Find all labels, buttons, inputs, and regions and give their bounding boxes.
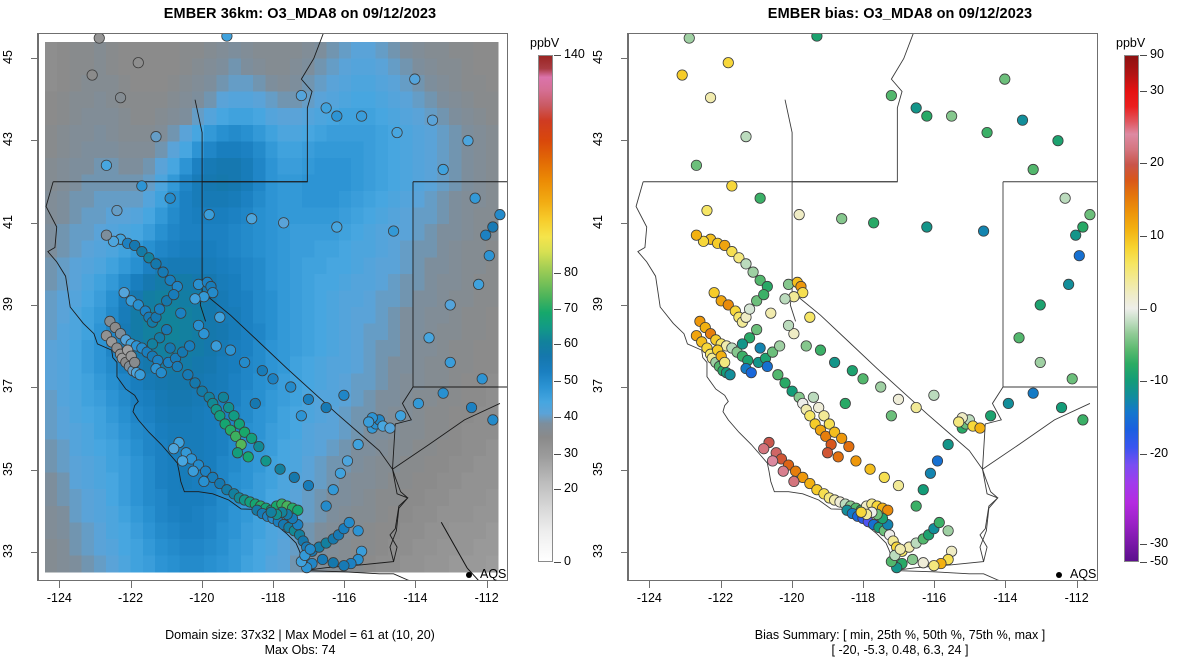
colorbar-tick [1140, 236, 1147, 237]
colorbar-tick [554, 417, 561, 418]
x-axis-tick [1005, 581, 1006, 588]
colorbar-tick-label: 50 [564, 373, 578, 387]
colorbar-tick-label: 30 [1150, 83, 1164, 97]
x-axis-tick-label: -116 [904, 591, 964, 605]
concentration-colorbar-unit: ppbV [530, 36, 559, 50]
y-axis-tick-label: 43 [1, 119, 15, 159]
x-axis-tick [934, 581, 935, 588]
colorbar-tick [554, 454, 561, 455]
y-axis-tick-label: 39 [1, 284, 15, 324]
colorbar-tick-label: -20 [1150, 446, 1168, 460]
y-axis-tick-label: 33 [591, 531, 605, 571]
x-axis-tick-label: -122 [691, 591, 751, 605]
y-axis-line [627, 33, 628, 581]
x-axis-tick [863, 581, 864, 588]
colorbar-tick-label: 70 [564, 301, 578, 315]
x-axis-tick [59, 581, 60, 588]
x-axis-tick-label: -114 [385, 591, 445, 605]
x-axis-tick-label: -118 [243, 591, 303, 605]
colorbar-tick [1140, 309, 1147, 310]
colorbar-tick [1140, 454, 1147, 455]
colorbar-tick [1140, 562, 1147, 563]
colorbar-tick-label: 90 [1150, 47, 1164, 61]
colorbar-tick [1140, 163, 1147, 164]
x-axis-tick [415, 581, 416, 588]
x-axis-tick [649, 581, 650, 588]
y-axis-tick-label: 45 [591, 37, 605, 77]
x-axis-tick-label: -120 [172, 591, 232, 605]
colorbar-tick [554, 381, 561, 382]
colorbar-tick [1140, 381, 1147, 382]
y-axis-line [37, 33, 38, 581]
model-concentration-panel: EMBER 36km: O3_MDA8 on 09/12/2023 AQS Do… [0, 0, 600, 672]
colorbar-tick-label: 20 [564, 481, 578, 495]
x-axis-tick [792, 581, 793, 588]
x-axis-tick [202, 581, 203, 588]
colorbar-tick-label: 60 [564, 336, 578, 350]
figure-root: EMBER 36km: O3_MDA8 on 09/12/2023 AQS Do… [0, 0, 1200, 672]
colorbar-tick-label: 10 [1150, 228, 1164, 242]
x-axis-tick-label: -114 [975, 591, 1035, 605]
bias-colorbar-gradient [1124, 55, 1139, 562]
colorbar-tick-label: 40 [564, 409, 578, 423]
x-axis-tick [1077, 581, 1078, 588]
x-axis-tick-label: -112 [1047, 591, 1107, 605]
x-axis-tick-label: -124 [29, 591, 89, 605]
colorbar-tick [554, 489, 561, 490]
y-axis-tick-label: 37 [591, 366, 605, 406]
colorbar-tick [1140, 91, 1147, 92]
colorbar-tick [554, 344, 561, 345]
x-axis-tick [131, 581, 132, 588]
colorbar-tick [554, 273, 561, 274]
bias-panel: EMBER bias: O3_MDA8 on 09/12/2023 AQS Bi… [600, 0, 1200, 672]
bias-colorbar: ppbV -50-30-20-10010203090 [600, 0, 1200, 672]
colorbar-tick-label: -50 [1150, 554, 1168, 568]
colorbar-tick [554, 309, 561, 310]
bias-colorbar-unit: ppbV [1116, 36, 1145, 50]
colorbar-tick-label: 0 [564, 554, 571, 568]
x-axis-tick [721, 581, 722, 588]
colorbar-tick [1140, 544, 1147, 545]
y-axis-tick-label: 39 [591, 284, 605, 324]
y-axis-tick-label: 43 [591, 119, 605, 159]
colorbar-tick-label: -10 [1150, 373, 1168, 387]
colorbar-tick-label: 0 [1150, 301, 1157, 315]
y-axis-tick-label: 41 [1, 202, 15, 242]
x-axis-tick [273, 581, 274, 588]
y-axis-tick-label: 45 [1, 37, 15, 77]
colorbar-tick [554, 562, 561, 563]
x-axis-tick-label: -112 [457, 591, 517, 605]
concentration-colorbar-gradient [538, 55, 553, 562]
y-axis-tick-label: 35 [591, 449, 605, 489]
x-axis-tick [487, 581, 488, 588]
colorbar-tick-label: 20 [1150, 155, 1164, 169]
colorbar-tick [554, 55, 561, 56]
y-axis-tick-label: 33 [1, 531, 15, 571]
colorbar-tick [1140, 55, 1147, 56]
colorbar-tick-label: -30 [1150, 536, 1168, 550]
x-axis-tick [344, 581, 345, 588]
y-axis-tick-label: 37 [1, 366, 15, 406]
x-axis-tick-label: -118 [833, 591, 893, 605]
colorbar-tick-label: 30 [564, 446, 578, 460]
colorbar-tick-label: 140 [564, 47, 585, 61]
colorbar-tick-label: 80 [564, 265, 578, 279]
x-axis-tick-label: -120 [762, 591, 822, 605]
x-axis-tick-label: -116 [314, 591, 374, 605]
x-axis-tick-label: -122 [101, 591, 161, 605]
concentration-colorbar: ppbV 020304050607080140 [0, 0, 600, 672]
y-axis-tick-label: 41 [591, 202, 605, 242]
y-axis-tick-label: 35 [1, 449, 15, 489]
x-axis-tick-label: -124 [619, 591, 679, 605]
